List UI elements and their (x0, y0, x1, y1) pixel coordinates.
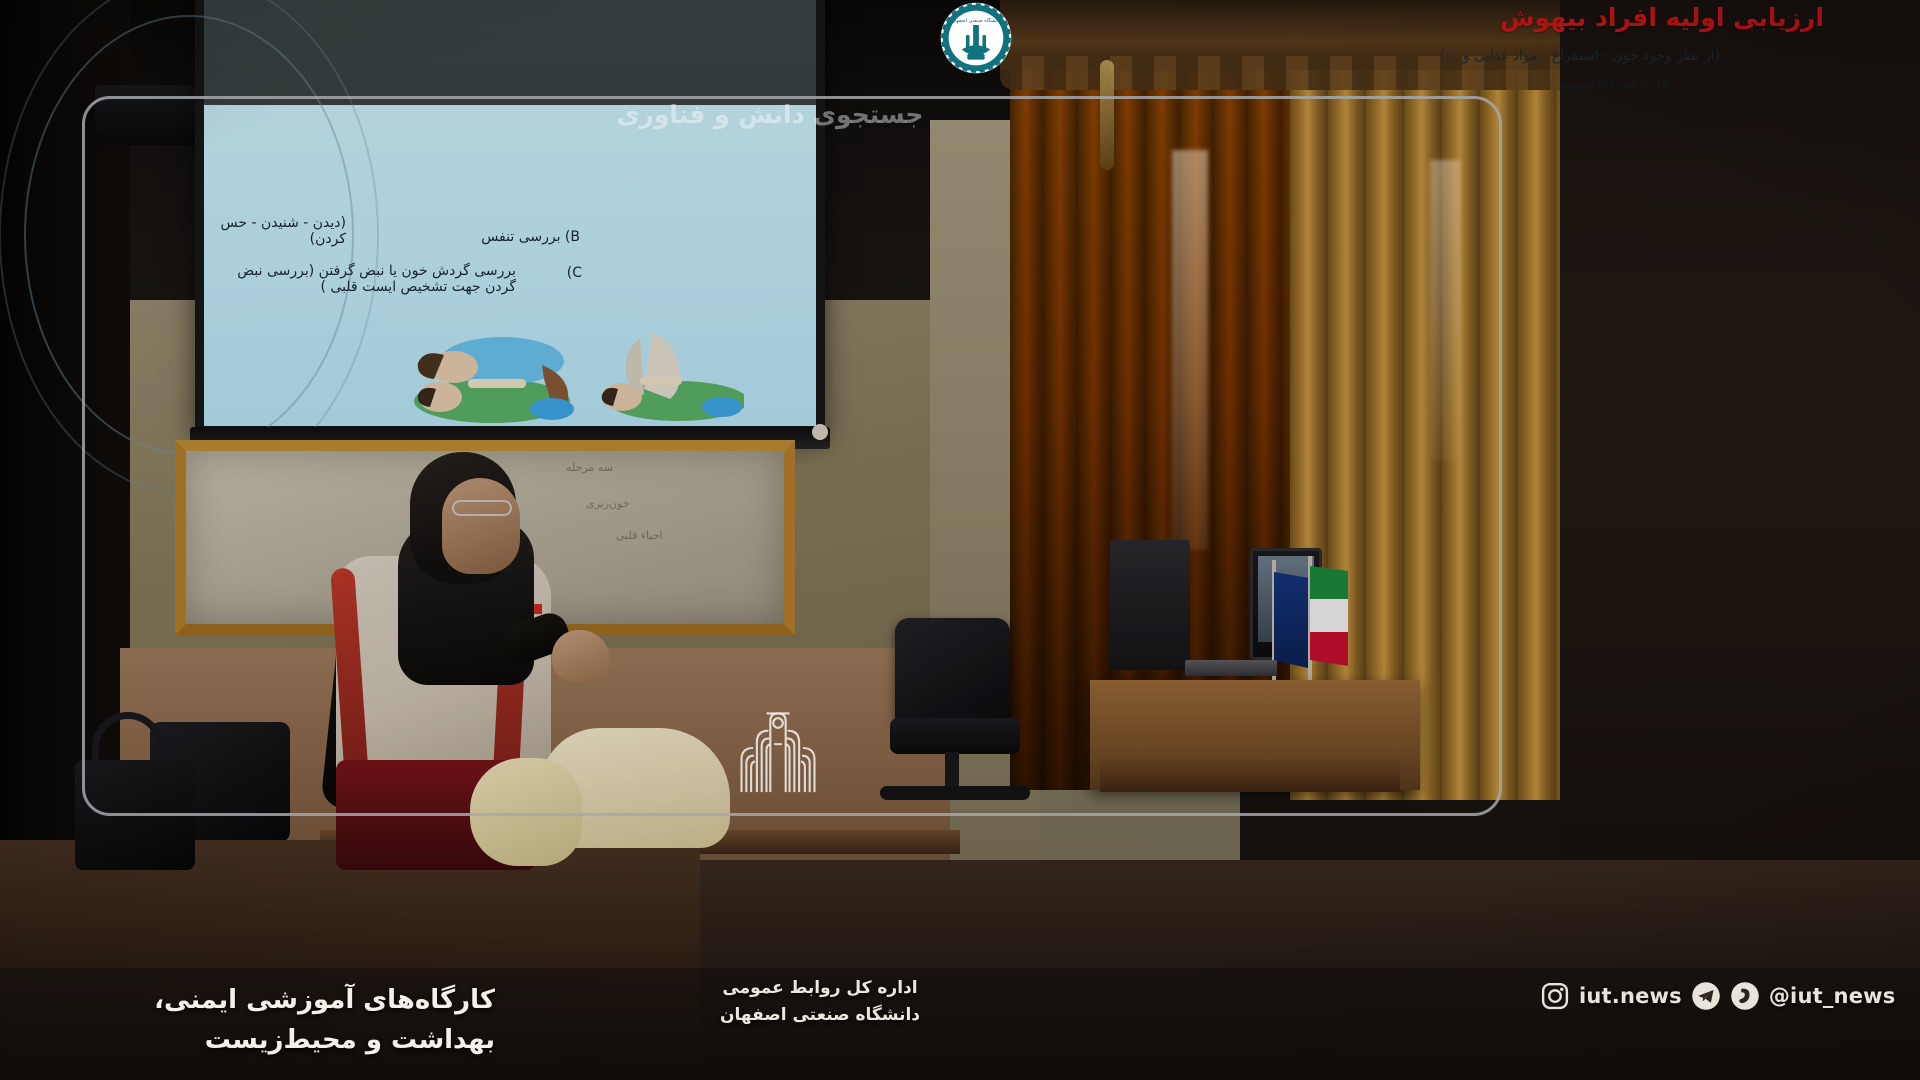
pr-line-2: دانشگاه صنعتی اصفهان (700, 1002, 940, 1029)
computer-tower (1110, 540, 1190, 670)
instagram-handle[interactable]: iut.news (1579, 984, 1682, 1008)
iran-flag (1310, 566, 1348, 666)
telegram-icon[interactable] (1691, 981, 1721, 1011)
search-watermark: جستجوی دانش و فناوری (605, 98, 935, 132)
whiteboard-scribble-2: خون‌ریزی (586, 497, 630, 510)
podium-keyboard (1185, 660, 1277, 676)
black-bag (75, 760, 195, 870)
far-right-wall (1560, 0, 1920, 900)
cpr-illustration-icon (384, 305, 744, 435)
scene-photo: B) بررسی تنفس (دیدن - شنیدن - حس کردن) C… (0, 0, 1920, 1080)
messenger-handle[interactable]: @iut_news (1769, 984, 1896, 1008)
whiteboard-scribble-3: احیاء قلبی (616, 529, 663, 542)
curtain-tassel (1100, 60, 1114, 170)
window-light-gap-2 (1430, 160, 1460, 460)
slide-item-c-text: بررسی گردش خون یا نبض گرفتن (بررسی نبض گ… (204, 263, 516, 295)
iut-gateway-logo-icon (730, 700, 826, 796)
cpr-manikin-head (470, 758, 582, 866)
slide-title: ارزیابی اولیه افراد بیهوش (1500, 3, 1824, 32)
news-photo-card: B) بررسی تنفس (دیدن - شنیدن - حس کردن) C… (0, 0, 1920, 1080)
office-chair-base (880, 786, 1030, 800)
slide-item-b-label: B) بررسی تنفس (481, 229, 580, 245)
pr-line-1: اداره کل روابط عمومی (700, 975, 940, 1002)
podium-base (1100, 760, 1400, 792)
social-handles: iut.news @iut_news (1540, 978, 1895, 1014)
public-relations-credit: اداره کل روابط عمومی دانشگاه صنعتی اصفها… (700, 975, 940, 1029)
slide-subtitle: (از نظر وجود خون - استفراغ - مواد غذایی … (1440, 48, 1720, 64)
bale-icon[interactable] (1730, 981, 1760, 1011)
instructor-face (442, 478, 520, 574)
university-flag (1274, 572, 1308, 668)
screen-arc-line-2 (0, 0, 379, 495)
office-chair-back (895, 618, 1010, 723)
screen-pull-knob (812, 424, 828, 440)
whiteboard-scribble: سه مرحله (566, 461, 613, 474)
instructor-glasses-icon (452, 500, 512, 516)
svg-text:دانشگاه صنعتی اصفهان: دانشگاه صنعتی اصفهان (951, 17, 1000, 24)
projection-screen: B) بررسی تنفس (دیدن - شنیدن - حس کردن) C… (195, 0, 825, 435)
instagram-icon[interactable] (1540, 981, 1570, 1011)
slide-item-b-note: (دیدن - شنیدن - حس کردن) (204, 215, 346, 247)
iut-seal-icon: دانشگاه صنعتی اصفهان (940, 2, 1012, 74)
window-light-gap (1172, 150, 1208, 550)
slide-content-area: B) بررسی تنفس (دیدن - شنیدن - حس کردن) C… (204, 105, 816, 426)
photo-caption: کارگاه‌های آموزشی ایمنی، بهداشت و محیط‌ز… (75, 980, 495, 1060)
slide-item-a: A) بررسی راه تنفسی (1561, 76, 1670, 90)
office-chair-seat (890, 718, 1020, 754)
slide-item-c-label: C) (567, 265, 582, 281)
